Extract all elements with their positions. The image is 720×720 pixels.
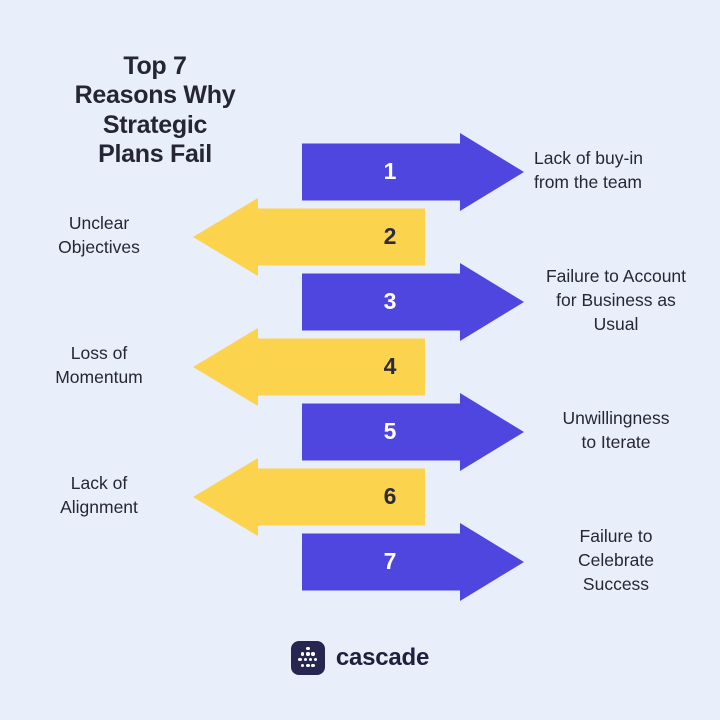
arrow-row: 7Failure to Celebrate Success bbox=[0, 523, 720, 601]
arrow-label: Lack of buy-in from the team bbox=[534, 146, 720, 194]
arrow-number: 6 bbox=[370, 485, 410, 508]
arrow-number: 4 bbox=[370, 355, 410, 378]
arrow-label: Lack of Alignment bbox=[6, 471, 192, 519]
infographic-canvas: Top 7 Reasons Why Strategic Plans Fail 1… bbox=[0, 0, 720, 720]
cascade-dots-icon bbox=[291, 641, 325, 675]
brand-logo: cascade bbox=[0, 641, 720, 675]
arrow-label: Failure to Account for Business as Usual bbox=[512, 264, 720, 336]
arrow-number: 7 bbox=[370, 550, 410, 573]
arrow-number: 3 bbox=[370, 290, 410, 313]
arrow-label: Unclear Objectives bbox=[6, 211, 192, 259]
arrow-label: Loss of Momentum bbox=[6, 341, 192, 389]
arrow-number: 1 bbox=[370, 160, 410, 183]
arrow-number: 5 bbox=[370, 420, 410, 443]
arrow-label: Failure to Celebrate Success bbox=[512, 524, 720, 596]
arrow-label: Unwillingness to Iterate bbox=[512, 406, 720, 454]
arrow-number: 2 bbox=[370, 225, 410, 248]
brand-name: cascade bbox=[336, 644, 429, 672]
